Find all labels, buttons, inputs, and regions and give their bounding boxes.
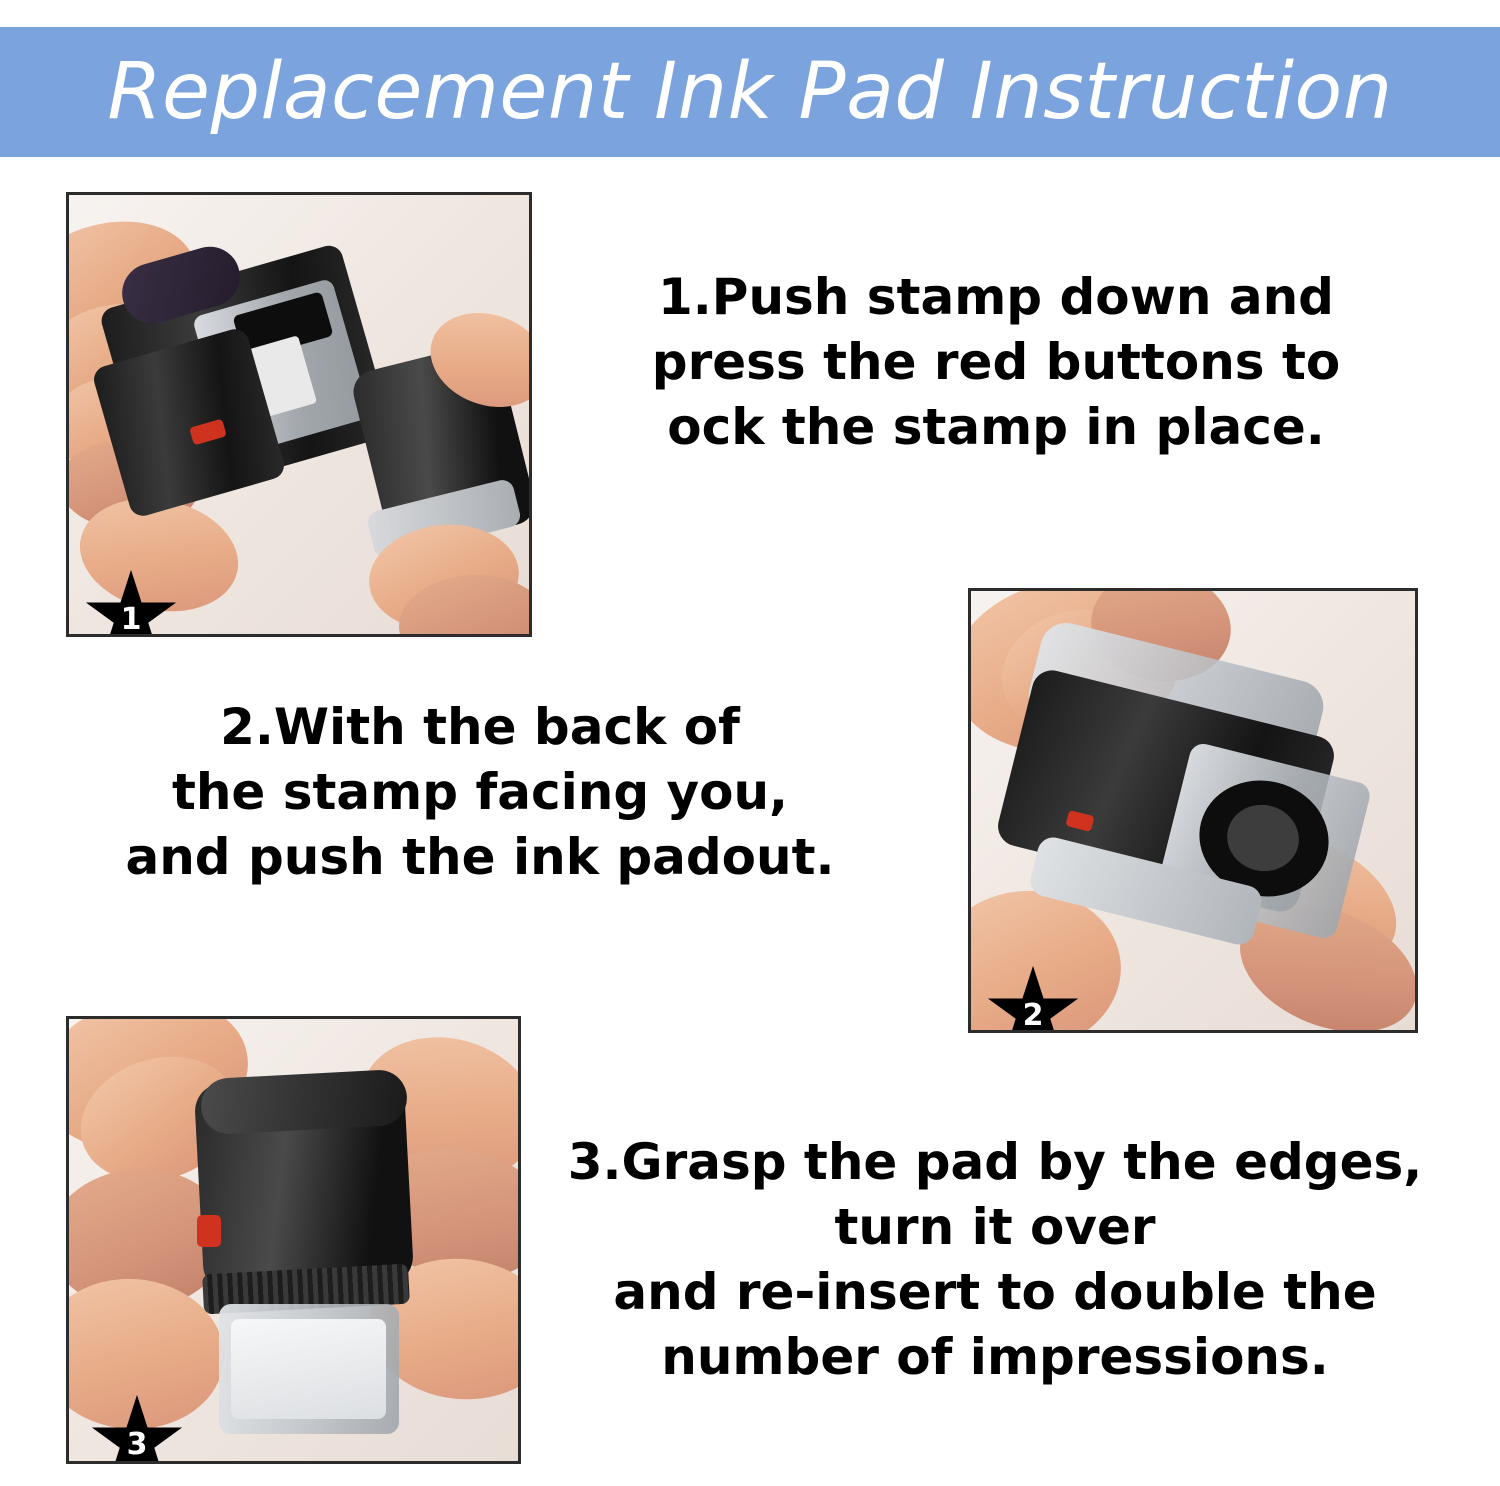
step-1-photo: 1 bbox=[66, 192, 532, 637]
step-2-text: 2.With the back of the stamp facing you,… bbox=[40, 695, 920, 890]
step-3-badge-number: 3 bbox=[89, 1393, 185, 1464]
step-1-badge-number: 1 bbox=[83, 568, 179, 637]
step-3-badge: 3 bbox=[89, 1393, 185, 1464]
step-1-text: 1.Push stamp down and press the red butt… bbox=[566, 265, 1426, 460]
page-title: Replacement Ink Pad Instruction bbox=[107, 53, 1392, 131]
step-2-photo: 2 bbox=[968, 588, 1418, 1033]
step-2-badge: 2 bbox=[985, 964, 1081, 1033]
step-1-badge: 1 bbox=[83, 568, 179, 637]
step-3-text: 3.Grasp the pad by the edges, turn it ov… bbox=[520, 1130, 1470, 1390]
step-2-badge-number: 2 bbox=[985, 964, 1081, 1033]
step-3-photo: 3 bbox=[66, 1016, 521, 1464]
stamp-top bbox=[200, 1069, 409, 1136]
ink-pad bbox=[231, 1319, 386, 1419]
header-banner: Replacement Ink Pad Instruction bbox=[0, 27, 1500, 157]
red-button bbox=[197, 1215, 221, 1247]
